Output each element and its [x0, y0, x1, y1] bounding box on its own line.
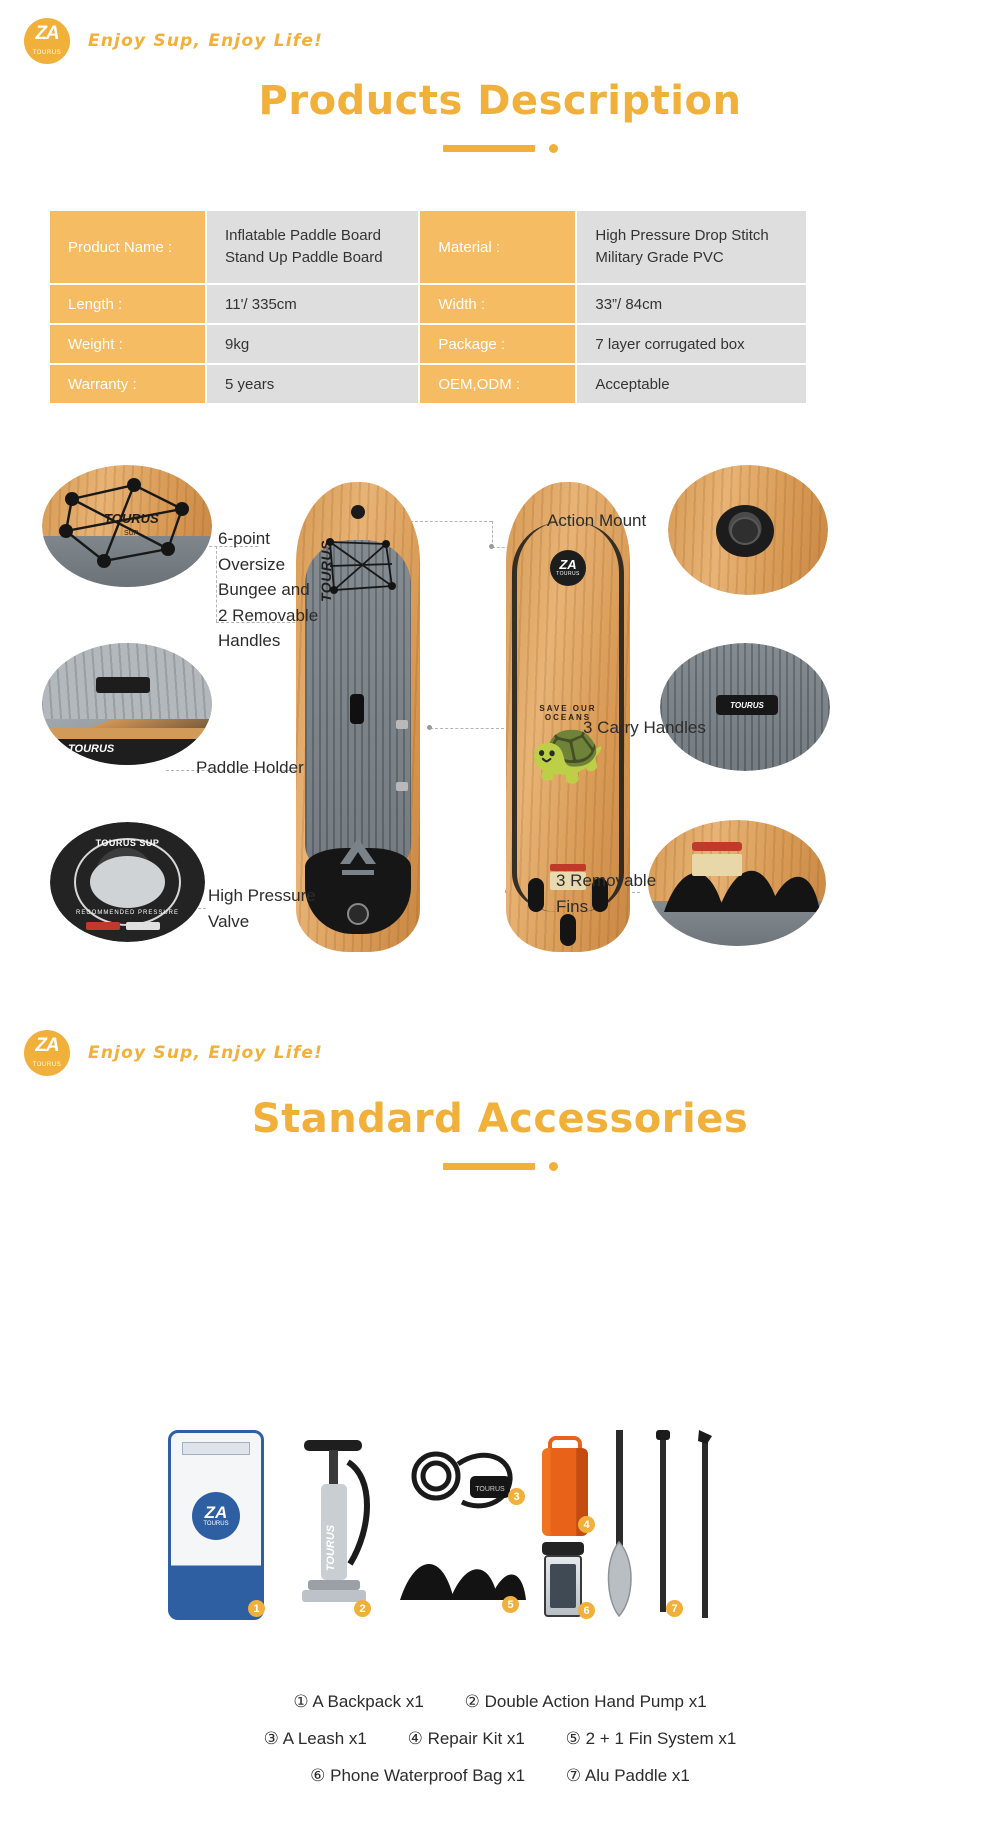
- callout-paddle-holder: Paddle Holder: [196, 755, 304, 781]
- accessory-badge-6: 6: [578, 1602, 595, 1619]
- accessory-repair-kit: 4: [536, 1436, 598, 1540]
- leader-dot-icon: [489, 544, 494, 549]
- products-description-heading: Products Description: [0, 78, 1000, 153]
- callout-high-pressure-valve: High Pressure Valve: [208, 883, 328, 934]
- brand-tagline: Enjoy Sup, Enjoy Life!: [88, 31, 323, 51]
- spec-key: Product Name :: [50, 211, 205, 283]
- callout-line: 2 Removable: [218, 603, 338, 629]
- brand-bar-bottom: ZA TOURUS Enjoy Sup, Enjoy Life!: [24, 1030, 323, 1076]
- brand-bar-top: ZA TOURUS Enjoy Sup, Enjoy Life!: [24, 18, 323, 64]
- accessory-phone-waterproof-bag: 6: [534, 1542, 596, 1622]
- spec-key: Width :: [420, 285, 575, 323]
- rule-bar-icon: [443, 145, 535, 152]
- alu-paddle-icon: [604, 1430, 720, 1626]
- accessory-badge-7: 7: [666, 1600, 683, 1617]
- bungee-cord-icon: TOURUS SUP: [42, 465, 212, 587]
- accessory-alu-paddle: 7: [604, 1430, 720, 1626]
- rule-dot-icon: [549, 144, 558, 153]
- spec-value: 7 layer corrugated box: [577, 325, 806, 363]
- brand-logo-name: TOURUS: [24, 1062, 70, 1069]
- spec-key: Weight :: [50, 325, 205, 363]
- brand-logo-mark: ZA: [24, 1036, 70, 1055]
- thumbnail-paddle-holder: TOURUS: [42, 643, 212, 765]
- legend-text: Repair Kit x1: [428, 1729, 525, 1748]
- leader-line: [216, 546, 217, 622]
- page-title: Products Description: [0, 78, 1000, 124]
- legend-entry: ② Double Action Hand Pump x1: [465, 1692, 707, 1712]
- callout-action-mount: Action Mount: [547, 508, 646, 534]
- standard-accessories-heading: Standard Accessories: [0, 1096, 1000, 1171]
- legend-line: ⑥ Phone Waterproof Bag x1 ⑦ Alu Paddle x…: [0, 1766, 1000, 1786]
- spec-key: Length :: [50, 285, 205, 323]
- thumbnail-high-pressure-valve: TOURUS SUP RECOMMENDED PRESSURE: [50, 822, 205, 942]
- spec-value: 9kg: [207, 325, 418, 363]
- svg-text:TOURUS: TOURUS: [325, 1524, 337, 1571]
- legend-marker: ⑥: [310, 1766, 325, 1785]
- legend-marker: ①: [293, 1692, 308, 1711]
- spec-value-line: Military Grade PVC: [595, 247, 788, 269]
- table-row: Product Name : Inflatable Paddle Board S…: [50, 211, 806, 283]
- accessory-leash: TOURUS 3: [400, 1436, 530, 1526]
- spec-value: 5 years: [207, 365, 418, 403]
- hand-pump-icon: TOURUS: [288, 1436, 380, 1624]
- legend-marker: ③: [264, 1729, 279, 1748]
- callout-line: High Pressure: [208, 883, 328, 909]
- callout-line: Fins: [556, 894, 676, 920]
- table-row: Weight : 9kg Package : 7 layer corrugate…: [50, 325, 806, 363]
- legend-text: A Leash x1: [283, 1729, 367, 1748]
- spec-table: Product Name : Inflatable Paddle Board S…: [48, 209, 808, 405]
- spec-value-line: Inflatable Paddle Board: [225, 225, 400, 247]
- accessory-badge-1: 1: [248, 1600, 265, 1617]
- callout-line: 3 Removable: [556, 868, 676, 894]
- table-row: Warranty : 5 years OEM,ODM : Acceptable: [50, 365, 806, 403]
- legend-marker: ②: [465, 1692, 480, 1711]
- callout-line: Bungee and: [218, 577, 338, 603]
- spec-key: Warranty :: [50, 365, 205, 403]
- accessory-hand-pump: TOURUS 2: [288, 1436, 380, 1624]
- accessories-row: ZA TOURUS 1 TOURUS 2: [0, 1430, 1000, 1650]
- table-row: Length : 11'/ 335cm Width : 33”/ 84cm: [50, 285, 806, 323]
- accessories-legend: ① A Backpack x1 ② Double Action Hand Pum…: [0, 1692, 1000, 1803]
- legend-marker: ④: [408, 1729, 423, 1748]
- title-rule: [0, 1162, 1000, 1171]
- spec-value: 11'/ 335cm: [207, 285, 418, 323]
- rule-bar-icon: [443, 1163, 535, 1170]
- spec-value: Acceptable: [577, 365, 806, 403]
- brand-logo-icon: ZA TOURUS: [24, 18, 70, 64]
- callout-bungee-handles: 6-point Oversize Bungee and 2 Removable …: [218, 526, 338, 654]
- legend-line: ① A Backpack x1 ② Double Action Hand Pum…: [0, 1692, 1000, 1712]
- rule-dot-icon: [549, 1162, 558, 1171]
- callout-line: Valve: [208, 909, 328, 935]
- legend-text: Phone Waterproof Bag x1: [330, 1766, 525, 1785]
- legend-marker: ⑦: [566, 1766, 581, 1785]
- svg-text:TOURUS: TOURUS: [475, 1486, 505, 1493]
- legend-line: ③ A Leash x1 ④ Repair Kit x1 ⑤ 2 + 1 Fin…: [0, 1729, 1000, 1749]
- spec-key: Package :: [420, 325, 575, 363]
- callout-line: Handles: [218, 628, 338, 654]
- legend-entry: ⑦ Alu Paddle x1: [566, 1766, 690, 1786]
- brand-tagline: Enjoy Sup, Enjoy Life!: [88, 1043, 323, 1063]
- accessory-badge-5: 5: [502, 1596, 519, 1613]
- svg-text:TOURUS: TOURUS: [104, 511, 159, 526]
- legend-text: Alu Paddle x1: [585, 1766, 690, 1785]
- accessory-fin-set: 5: [398, 1538, 528, 1620]
- brand-logo-mark: ZA: [24, 24, 70, 43]
- legend-text: 2 + 1 Fin System x1: [586, 1729, 737, 1748]
- leash-icon: TOURUS: [400, 1436, 530, 1526]
- legend-entry: ⑤ 2 + 1 Fin System x1: [566, 1729, 737, 1749]
- legend-entry: ① A Backpack x1: [293, 1692, 424, 1712]
- legend-entry: ③ A Leash x1: [264, 1729, 367, 1749]
- legend-text: A Backpack x1: [312, 1692, 424, 1711]
- accessory-backpack: ZA TOURUS 1: [168, 1430, 264, 1620]
- brand-logo-icon: ZA TOURUS: [24, 1030, 70, 1076]
- backpack-logo-name: TOURUS: [203, 1521, 228, 1527]
- callout-removable-fins: 3 Removable Fins: [556, 868, 676, 919]
- legend-text: Double Action Hand Pump x1: [485, 1692, 707, 1711]
- thumbnail-bungee-deck: TOURUS SUP: [42, 465, 212, 587]
- section-title: Standard Accessories: [0, 1096, 1000, 1142]
- spec-key: Material :: [420, 211, 575, 283]
- thumbnail-carry-handle: TOURUS: [660, 643, 830, 771]
- accessory-badge-3: 3: [508, 1488, 525, 1505]
- accessory-badge-4: 4: [578, 1516, 595, 1533]
- callout-carry-handles: 3 Carry Handles: [583, 715, 706, 741]
- title-rule: [0, 144, 1000, 153]
- brand-logo-name: TOURUS: [24, 50, 70, 57]
- spec-value: Inflatable Paddle Board Stand Up Paddle …: [207, 211, 418, 283]
- thumbnail-action-mount: [668, 465, 828, 595]
- leader-dot-icon: [427, 725, 432, 730]
- spec-key: OEM,ODM :: [420, 365, 575, 403]
- legend-entry: ④ Repair Kit x1: [408, 1729, 525, 1749]
- spec-value-line: Stand Up Paddle Board: [225, 247, 400, 269]
- spec-value: 33”/ 84cm: [577, 285, 806, 323]
- legend-marker: ⑤: [566, 1729, 581, 1748]
- backpack-logo-mark: ZA: [205, 1505, 228, 1521]
- spec-value: High Pressure Drop Stitch Military Grade…: [577, 211, 806, 283]
- board-feature-diagram: TOURUS SUP TOURUS TOURUS SUP RECOMMENDED…: [0, 440, 1000, 985]
- svg-text:SUP: SUP: [124, 530, 139, 537]
- spec-value-line: High Pressure Drop Stitch: [595, 225, 788, 247]
- accessory-badge-2: 2: [354, 1600, 371, 1617]
- callout-line: 6-point Oversize: [218, 526, 338, 577]
- legend-entry: ⑥ Phone Waterproof Bag x1: [310, 1766, 525, 1786]
